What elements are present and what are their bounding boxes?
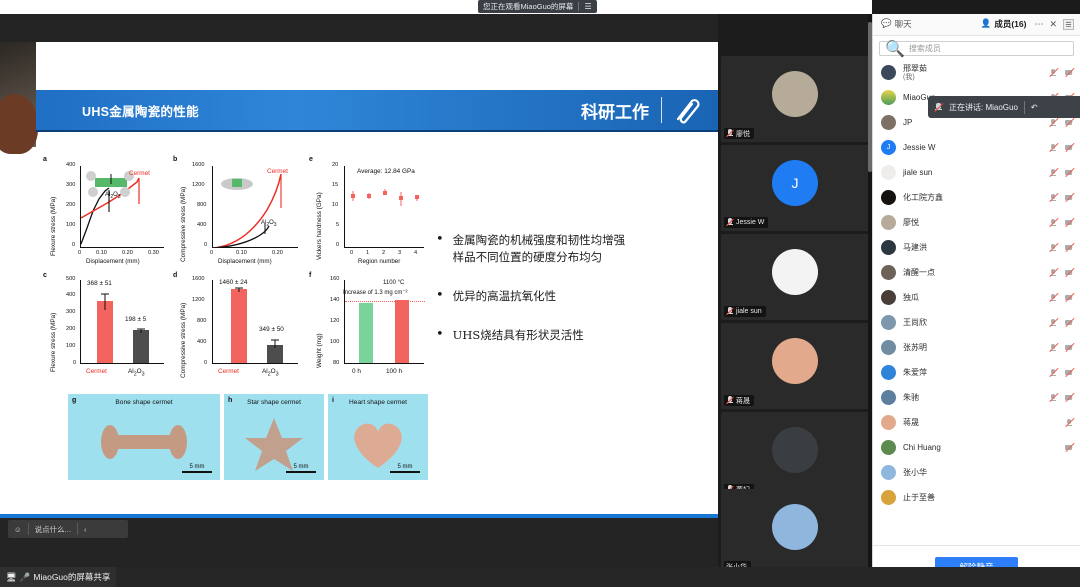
list-item[interactable]: 蒋晟 [873,410,1080,435]
photo-panel-i: i Heart shape cermet 5 mm [328,394,428,480]
smiley-icon[interactable]: ☺ [8,520,28,538]
camera-muted-icon[interactable] [1064,443,1074,453]
title-divider [661,97,662,123]
list-item[interactable]: 马建洪 [873,235,1080,260]
participant-display-name: 清醒一点 [903,268,935,277]
list-item[interactable]: 朱驰 [873,385,1080,410]
bullet-marker: • [436,288,444,305]
list-item[interactable]: 张苏明 [873,335,1080,360]
participant-display-name: 王尚欣 [903,318,927,327]
participant-display-name: 张苏明 [903,343,927,352]
avatar-initial: J [772,160,818,206]
list-icon[interactable]: ☰ [584,3,591,11]
monitor-icon: 🖥 [6,572,17,583]
video-tile[interactable]: 廖悦 [721,56,869,142]
video-tile-nametag: Jessie W [724,217,768,228]
bullet-marker: • [436,327,444,344]
participant-name: 邢翠茹 (我) [903,64,1041,82]
camera-muted-icon[interactable] [1064,368,1074,378]
share-chat-input[interactable]: 说点什么... [29,520,77,538]
mic-muted-icon[interactable] [1048,343,1058,353]
panel-f-xcat-0h: 0 h [352,368,361,375]
mic-muted-icon[interactable] [1048,193,1058,203]
participant-display-name: 张小华 [903,468,927,477]
list-item[interactable]: Chi Huang [873,435,1080,460]
panel-c-xcat-cermet: Cermet [86,368,107,375]
panel-c-label-al2o3: 198 ± 5 [125,316,146,323]
panel-b-xlabel: Displacement (mm) [218,258,272,265]
chart-panel-a: a Flexure stress (MPa) Cerm [42,156,174,268]
people-icon: 👤 [981,18,992,29]
panel-label-a: a [43,156,47,163]
mic-muted-icon[interactable] [1048,68,1058,78]
participant-list[interactable]: 邢翠茹 (我) MiaoGuo JP [873,60,1080,545]
slide-section-title-wrap: 科研工作 [581,95,718,125]
slide-title-bar: UHS金属陶瓷的性能 科研工作 [36,90,718,130]
paperclip-icon [674,95,710,125]
mic-muted-icon[interactable] [1048,368,1058,378]
panel-f-annotation-temp: 1100 °C [383,280,404,286]
top-strip: 您正在观看MiaoGuo的屏幕 ☰ [0,0,872,14]
mic-muted-icon[interactable] [1048,168,1058,178]
list-item[interactable]: 化工院方鑫 [873,185,1080,210]
panel-d-xcat-al2o3: Al2O3 [262,368,279,377]
bullet-item: • UHS烧结具有形状灵活性 [436,327,708,344]
taskbar-label: MiaoGuo的屏幕共享 [33,571,110,583]
panel-f-annotation-increase: Increase of 1.3 mg cm⁻² [343,289,408,296]
photo-panel-h: h Star shape cermet 5 mm [224,394,324,480]
panel-a-series-cermet-label: Cermet [129,170,150,177]
share-chat-toolbar[interactable]: ☺ 说点什么... ‹ [8,520,128,538]
app-root: 您正在观看MiaoGuo的屏幕 ☰ UHS金属陶瓷的性能 科研工作 a [0,0,1080,587]
panel-label-b: b [173,156,177,163]
tooltip-divider [578,2,579,11]
chart-panel-f: f Weight (mg) 1100 °C Increase of 1.3 mg… [308,272,430,384]
panel-c-ylabel: Flexure stress (MPa) [50,313,57,372]
bullet-marker: • [436,232,444,266]
panel-b-ylabel: Compressive stress (MPa) [180,187,187,262]
camera-muted-icon[interactable] [1064,343,1074,353]
panel-d-xcat-cermet: Cermet [218,368,239,375]
watching-screen-tooltip: 您正在观看MiaoGuo的屏幕 ☰ [478,0,597,13]
panel-e-xlabel: Region number [358,258,400,265]
taskbar-item-screen-share[interactable]: 🖥 🎤 MiaoGuo的屏幕共享 [0,567,116,587]
return-arrow-icon[interactable]: ↶ [1031,103,1038,112]
speaking-now-text: 正在讲话: MiaoGuo [949,102,1018,113]
participant-display-name: 化工院方鑫 [903,193,943,202]
mic-muted-icon [726,129,733,138]
mic-muted-icon[interactable] [1048,143,1058,153]
panel-a-series-al2o3-label: Al2O3 [105,192,121,200]
camera-muted-icon[interactable] [1064,118,1074,128]
panel-c-label-cermet: 368 ± 51 [87,280,112,287]
video-tile-nametag: 廖悦 [724,128,754,139]
tab-chat-label: 聊天 [895,18,912,30]
chart-panel-c: c Flexure stress (MPa) 368 ± 51 198 ± 5 … [42,272,174,384]
panel-label-e: e [309,156,313,163]
mic-muted-icon [934,102,943,113]
popout-icon[interactable]: ☰ [1063,19,1074,30]
slide-bullets: • 金属陶瓷的机械强度和韧性均增强 样品不同位置的硬度分布均匀 • 优异的高温抗… [436,232,708,366]
camera-muted-icon[interactable] [1064,393,1074,403]
list-item[interactable]: 朱爱萍 [873,360,1080,385]
participant-display-name: 马建洪 [903,243,927,252]
participant-display-name: 朱驰 [903,393,919,402]
panel-e-ylabel: Vickers hardness (GPa) [316,192,323,260]
panel-label-c: c [43,272,47,279]
mic-muted-icon[interactable] [1048,293,1058,303]
participant-sub-label: (我) [903,73,1041,82]
panel-label-d: d [173,272,177,279]
chart-panel-b: b Compressive stress (MPa) Cermet Al2O3 … [172,156,310,268]
panel-f-xcat-100h: 100 h [386,368,402,375]
bullet-item: • 优异的高温抗氧化性 [436,288,708,305]
slide-section-title: 科研工作 [581,98,649,123]
mic-muted-icon [726,218,733,227]
panel-tabs: 💬 聊天 👤 成员(16) ⋯ ✕ ☰ [873,14,1080,36]
camera-muted-icon[interactable] [1064,243,1074,253]
panel-d-label-cermet: 1460 ± 24 [219,279,247,286]
video-tile[interactable]: J Jessie W [721,145,869,231]
camera-muted-icon[interactable] [1064,68,1074,78]
participants-panel: 💬 聊天 👤 成员(16) ⋯ ✕ ☰ 🔍 搜索成员 [872,14,1080,587]
video-tile[interactable]: 张小华 [721,489,869,567]
panel-d-label-al2o3: 349 ± 50 [259,326,284,333]
slide-title: UHS金属陶瓷的性能 [82,101,199,120]
speaking-now-tooltip: 正在讲话: MiaoGuo ↶ [928,96,1080,118]
mic-muted-icon[interactable] [1048,218,1058,228]
mic-muted-icon [726,396,733,405]
mic-muted-icon[interactable] [1048,268,1058,278]
video-tile-name: 廖悦 [736,129,750,139]
panel-a-xlabel: Displacement (mm) [86,258,140,265]
participant-display-name: JP [903,118,912,127]
bullet-item: • 金属陶瓷的机械强度和韧性均增强 样品不同位置的硬度分布均匀 [436,232,708,266]
participant-display-name: 蒋晟 [903,418,919,427]
chevron-left-icon[interactable]: ‹ [78,520,93,538]
mic-muted-icon[interactable] [1048,318,1058,328]
list-item[interactable]: 张小华 [873,460,1080,485]
camera-muted-icon[interactable] [1064,218,1074,228]
panel-b-series-al2o3-label: Al2O3 [261,220,277,228]
video-tile-nametag: jiale sun [724,306,766,317]
mic-muted-icon [726,307,733,316]
photo-g-scalebar: 5 mm [182,464,212,473]
search-icon: 🔍 [885,39,905,59]
list-item[interactable]: 止于至善 [873,485,1080,510]
list-item[interactable]: 独瓜 [873,285,1080,310]
mic-muted-icon[interactable] [1048,118,1058,128]
list-item[interactable]: 王尚欣 [873,310,1080,335]
video-tile-name: jiale sun [736,308,762,315]
bullet-text: 优异的高温抗氧化性 [453,288,557,305]
taskbar: 🖥 🎤 MiaoGuo的屏幕共享 [0,567,1080,587]
photo-i-scalebar: 5 mm [390,464,420,473]
camera-muted-icon[interactable] [1064,293,1074,303]
list-item[interactable]: J Jessie W [873,135,1080,160]
list-item[interactable]: 清醒一点 [873,260,1080,285]
photo-i-scale-text: 5 mm [390,464,420,470]
bullet-text: 金属陶瓷的机械强度和韧性均增强 样品不同位置的硬度分布均匀 [453,232,626,266]
tab-chat[interactable]: 💬 聊天 [873,14,920,35]
list-item[interactable]: 廖悦 [873,210,1080,235]
camera-muted-icon[interactable] [1064,143,1074,153]
panel-f-ylabel: Weight (mg) [316,333,323,368]
search-placeholder: 搜索成员 [909,43,941,54]
tab-members-label: 成员(16) [994,18,1026,30]
list-item[interactable]: jiale sun [873,160,1080,185]
camera-muted-icon[interactable] [1064,193,1074,203]
video-tile-nametag: 蒋晟 [724,395,754,406]
chat-icon: 💬 [881,18,892,29]
participant-display-name: Chi Huang [903,443,941,452]
tab-members[interactable]: 👤 成员(16) [973,14,1035,35]
close-icon[interactable]: ✕ [1049,19,1057,30]
panel-e-annotation: Average: 12.84 GPa [357,168,415,175]
panel-f-bar-0h [359,303,373,363]
video-tile-name: Jessie W [736,219,764,226]
mic-muted-icon[interactable] [1048,243,1058,253]
camera-muted-icon[interactable] [1064,318,1074,328]
list-item[interactable]: 邢翠茹 (我) [873,60,1080,85]
panel-label-f: f [309,272,311,279]
participant-display-name: 独瓜 [903,293,919,302]
video-tile[interactable]: 蕾妃 [721,412,869,498]
camera-muted-icon[interactable] [1064,268,1074,278]
slide-bottom-accent [0,514,718,518]
figure-grid: a Flexure stress (MPa) Cerm [40,134,430,499]
panel-c-xcat-al2o3: Al2O3 [128,368,145,377]
bullet-text: UHS烧结具有形状灵活性 [453,327,584,344]
participant-display-name: 廖悦 [903,218,919,227]
avatar-initial: J [881,140,896,155]
camera-muted-icon[interactable] [1064,168,1074,178]
panel-f-bar-100h [395,300,409,363]
chart-panel-d: d Compressive stress (MPa) 1460 ± 24 349… [172,272,310,384]
watching-screen-text: 您正在观看MiaoGuo的屏幕 [483,1,573,12]
shared-screen-area[interactable]: UHS金属陶瓷的性能 科研工作 a Flexure stress (MPa) [0,14,718,567]
participant-display-name: 朱爱萍 [903,368,927,377]
participant-display-name: Jessie W [903,143,935,152]
photo-panel-g: g Bone shape cermet 5 mm [68,394,220,480]
chart-panel-e: e Vickers hardness (GPa) [308,156,430,268]
mic-muted-icon[interactable] [1048,393,1058,403]
mic-muted-icon[interactable] [1064,418,1074,428]
participant-display-name: jiale sun [903,168,932,177]
photo-h-scalebar: 5 mm [286,464,316,473]
participant-display-name: 邢翠茹 [903,64,927,73]
video-tile-name: 蒋晟 [736,396,750,406]
mic-icon: 🎤 [20,572,31,583]
participant-display-name: 止于至善 [903,493,935,502]
slide-title-underline [36,130,718,132]
video-tile[interactable]: 蒋晟 [721,323,869,409]
photo-h-scale-text: 5 mm [286,464,316,470]
panel-a-ylabel: Flexure stress (MPa) [50,197,57,256]
video-tile[interactable]: jiale sun [721,234,869,320]
photo-g-scale-text: 5 mm [182,464,212,470]
panel-d-ylabel: Compressive stress (MPa) [180,303,187,378]
more-dots-icon[interactable]: ⋯ [1034,19,1043,30]
panel-b-series-cermet-label: Cermet [267,168,288,175]
search-input[interactable]: 🔍 搜索成员 [879,41,1074,56]
video-filmstrip[interactable]: 廖悦 J Jessie W jiale sun 蒋晟 [718,14,872,567]
presenter-camera-sliver [0,42,36,147]
search-bar: 🔍 搜索成员 [873,36,1080,60]
